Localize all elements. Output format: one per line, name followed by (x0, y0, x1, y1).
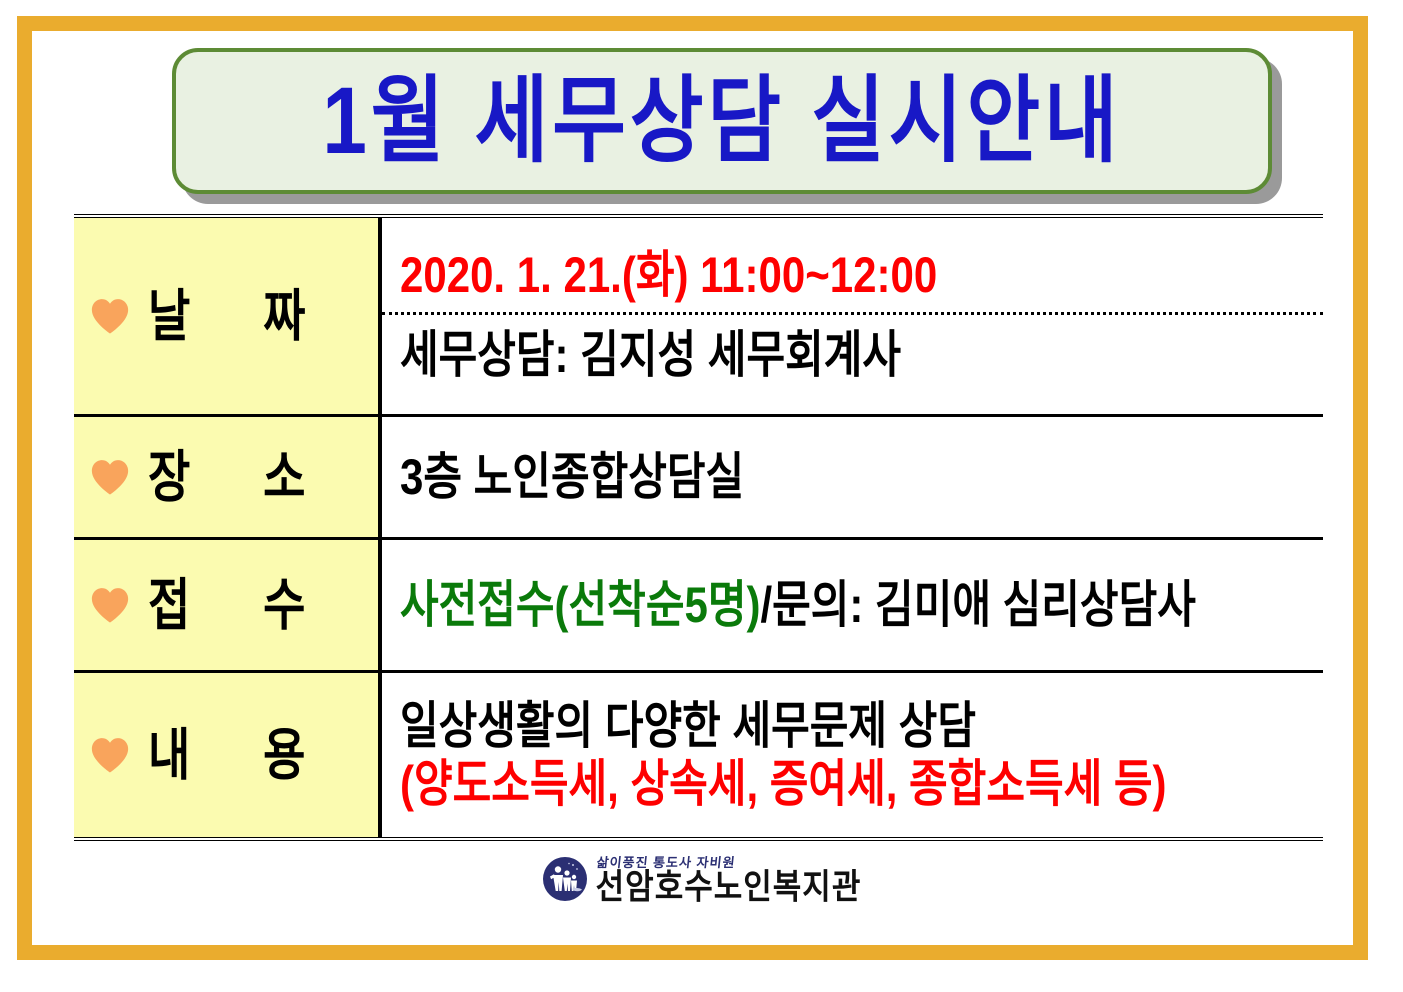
row-label-date: 날 짜 (74, 218, 382, 414)
consultant-line: 세무상담: 김지성 세무회계사 (400, 328, 1313, 381)
row-label-text: 장 소 (148, 449, 335, 505)
table-row: 날 짜 2020. 1. 21.(화) 11:00~12:00 세무상담: 김지… (74, 218, 1323, 417)
registration-contact: /문의: 김미애 심리상담사 (760, 576, 1195, 632)
table-row: 접 수 사전접수(선착순5명)/문의: 김미애 심리상담사 (74, 540, 1323, 673)
consultant-line-wrap: 세무상담: 김지성 세무회계사 (382, 315, 1323, 395)
row-value-place: 3층 노인종합상담실 (382, 417, 1323, 537)
page-title: 1월 세무상담 실시안내 (322, 74, 1121, 168)
content-line-primary: 일상생활의 다양한 세무문제 상담 (400, 699, 1313, 752)
row-value-date: 2020. 1. 21.(화) 11:00~12:00 세무상담: 김지성 세무… (382, 218, 1323, 414)
footer-logo: 삶이풍진 통도사 자비원 선암호수노인복지관 (0, 856, 1403, 902)
table-row: 내 용 일상생활의 다양한 세무문제 상담 (양도소득세, 상속세, 증여세, … (74, 673, 1323, 837)
footer-organization-name: 선암호수노인복지관 (596, 869, 862, 904)
row-label-registration: 접 수 (74, 540, 382, 670)
heart-icon (90, 735, 130, 775)
registration-line: 사전접수(선착순5명)/문의: 김미애 심리상담사 (400, 579, 1313, 632)
poster-page: 1월 세무상담 실시안내 날 짜 2020. 1. 21.(화) 11:00~1… (0, 0, 1403, 992)
registration-highlight: 사전접수(선착순5명) (400, 576, 760, 632)
row-label-place: 장 소 (74, 417, 382, 537)
date-time-line: 2020. 1. 21.(화) 11:00~12:00 (400, 249, 1313, 302)
date-time-line-wrap: 2020. 1. 21.(화) 11:00~12:00 (382, 237, 1323, 314)
row-label-text: 날 짜 (148, 288, 335, 344)
table-row: 장 소 3층 노인종합상담실 (74, 417, 1323, 540)
title-banner-body: 1월 세무상담 실시안내 (172, 48, 1272, 194)
title-banner: 1월 세무상담 실시안내 (172, 48, 1272, 194)
content-line-detail: (양도소득세, 상속세, 증여세, 종합소득세 등) (400, 758, 1313, 811)
heart-icon (90, 457, 130, 497)
row-label-text: 접 수 (148, 577, 335, 633)
row-label-content: 내 용 (74, 673, 382, 837)
row-value-content: 일상생활의 다양한 세무문제 상담 (양도소득세, 상속세, 증여세, 종합소득… (382, 673, 1323, 837)
heart-icon (90, 296, 130, 336)
welfare-center-logo-icon (542, 856, 588, 902)
row-value-registration: 사전접수(선착순5명)/문의: 김미애 심리상담사 (382, 540, 1323, 670)
info-table: 날 짜 2020. 1. 21.(화) 11:00~12:00 세무상담: 김지… (74, 214, 1323, 841)
row-label-text: 내 용 (148, 727, 335, 783)
place-line: 3층 노인종합상담실 (400, 451, 1313, 504)
footer-logo-text: 삶이풍진 통도사 자비원 선암호수노인복지관 (596, 856, 862, 902)
heart-icon (90, 585, 130, 625)
